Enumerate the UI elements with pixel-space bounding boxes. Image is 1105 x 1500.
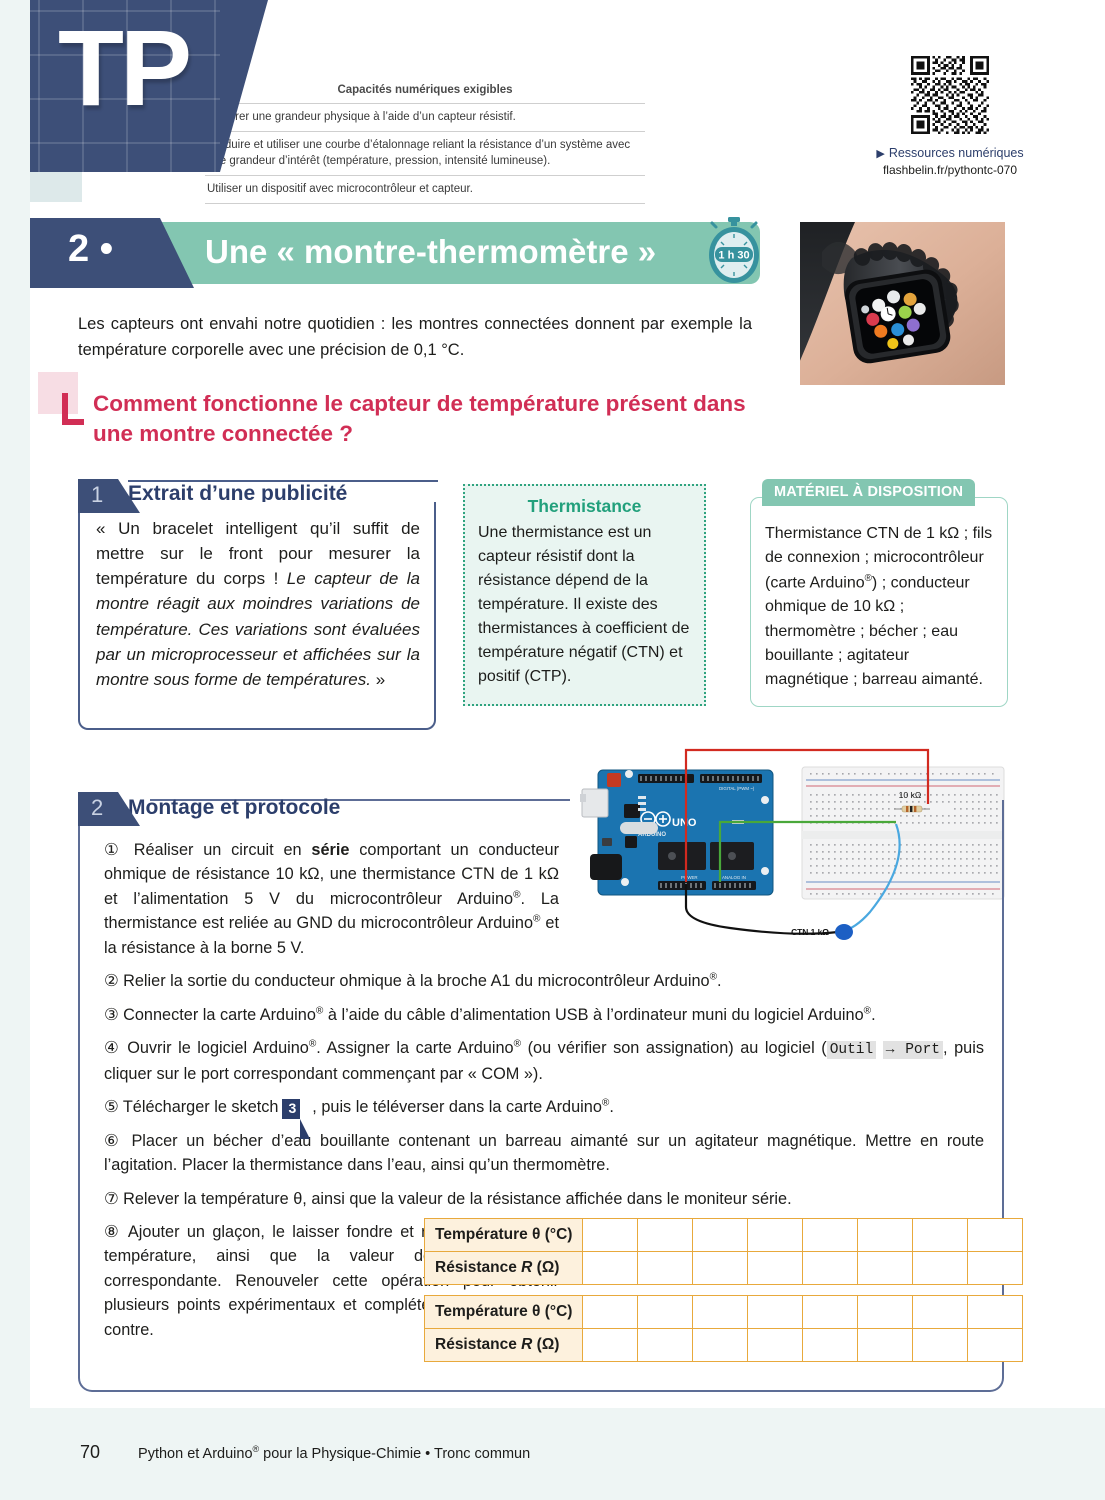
resistor-value-label: 10 kΩ — [899, 790, 922, 800]
table-row: Résistance R (Ω) — [425, 1252, 1023, 1285]
data-cell[interactable] — [638, 1329, 693, 1362]
data-cell[interactable] — [583, 1219, 638, 1252]
activity-number-tab: 2 • — [30, 218, 160, 288]
thermistance-definition-box: Thermistance Une thermistance est un cap… — [463, 484, 706, 706]
doc-1-number: 1 — [91, 482, 103, 508]
stopwatch-duration-label: 1 h 30 — [718, 250, 749, 262]
activity-title-bar: Une « montre-thermomètre » — [160, 222, 760, 284]
step-4-text-b: . Assigner la carte Arduino — [316, 1039, 513, 1057]
step-3-text-c: . — [871, 1006, 876, 1024]
data-cell[interactable] — [913, 1219, 968, 1252]
row-label-resistance: Résistance R (Ω) — [425, 1329, 583, 1362]
data-cell[interactable] — [693, 1252, 748, 1285]
step-5-text-b: , puis le téléverser dans la carte Ardui… — [312, 1098, 602, 1116]
step-3-text-a: ③ Connecter la carte Arduino — [104, 1006, 316, 1024]
table-row: Température θ (°C) — [425, 1219, 1023, 1252]
step-5-text-c: . — [609, 1098, 614, 1116]
data-cell[interactable] — [693, 1296, 748, 1329]
data-cell[interactable] — [913, 1329, 968, 1362]
smartwatch-photo — [800, 222, 1005, 385]
row-label-temperature: Température θ (°C) — [425, 1296, 583, 1329]
protocol-step-5: ⑤ Télécharger le sketch3, puis le téléve… — [104, 1095, 984, 1119]
capacity-item: Produire et utiliser une courbe d’étalon… — [205, 131, 645, 175]
data-cell[interactable] — [968, 1219, 1023, 1252]
data-cell[interactable] — [803, 1252, 858, 1285]
table-row: Température θ (°C) — [425, 1296, 1023, 1329]
data-cell[interactable] — [638, 1219, 693, 1252]
data-cell[interactable] — [583, 1329, 638, 1362]
data-cell[interactable] — [913, 1296, 968, 1329]
digital-resources-block[interactable]: ▶Ressources numériques flashbelin.fr/pyt… — [860, 56, 1040, 177]
decorative-corner-square — [30, 172, 82, 202]
registered-mark: ® — [865, 573, 872, 584]
thermistance-text: Une thermistance est un capteur résistif… — [478, 521, 691, 689]
protocol-step-1: ① Réaliser un circuit en série comportan… — [104, 838, 559, 960]
protocol-step-2: ② Relier la sortie du conducteur ohmique… — [104, 969, 984, 993]
play-triangle-icon: ▶ — [876, 148, 884, 160]
data-cell[interactable] — [803, 1329, 858, 1362]
data-cell[interactable] — [748, 1252, 803, 1285]
registered-mark: ® — [514, 1039, 521, 1050]
data-cell[interactable] — [803, 1296, 858, 1329]
doc-2-number: 2 — [91, 795, 103, 821]
intro-paragraph: Les capteurs ont envahi notre quotidien … — [78, 312, 752, 363]
doc-1-box: « Un bracelet intelligent qu’il suffit d… — [78, 502, 436, 730]
data-cell[interactable] — [968, 1296, 1023, 1329]
doc-1-text: « Un bracelet intelligent qu’il suffit d… — [96, 516, 420, 692]
sketch-reference-badge[interactable]: 3 — [282, 1099, 300, 1119]
tp-logo: TP — [30, 0, 220, 172]
registered-mark: ® — [864, 1005, 871, 1016]
footer-text-b: pour la Physique-Chimie • Tronc commun — [259, 1446, 530, 1462]
thermistance-title: Thermistance — [478, 496, 691, 517]
data-cell[interactable] — [748, 1219, 803, 1252]
stopwatch-icon: 1 h 30 — [703, 215, 765, 285]
data-cell[interactable] — [858, 1219, 913, 1252]
data-cell[interactable] — [968, 1252, 1023, 1285]
protocol-step-6: ⑥ Placer un bécher d’eau bouillante cont… — [104, 1129, 984, 1178]
table-row: Résistance R (Ω) — [425, 1329, 1023, 1362]
data-cell[interactable] — [638, 1252, 693, 1285]
step-3-text-b: à l’aide du câble d’alimentation USB à l… — [323, 1006, 863, 1024]
materiel-tab-label: MATÉRIEL À DISPOSITION — [774, 484, 963, 500]
results-table-2: Température θ (°C) Résistance R (Ω) — [424, 1295, 1023, 1362]
row-label-temperature: Température θ (°C) — [425, 1219, 583, 1252]
page-footer: 70Python et Arduino® pour la Physique-Ch… — [80, 1442, 530, 1463]
doc-1-number-tab: 1 — [78, 479, 118, 513]
label-digital: DIGITAL (PWM ~) — [719, 786, 755, 791]
capacity-item: Mesurer une grandeur physique à l’aide d… — [205, 103, 645, 131]
data-cell[interactable] — [693, 1219, 748, 1252]
qr-code-icon[interactable] — [911, 56, 989, 134]
protocol-step-7: ⑦ Relever la température θ, ainsi que la… — [104, 1187, 984, 1211]
page-number: 70 — [80, 1442, 100, 1462]
step-1-bold: série — [311, 841, 349, 859]
data-cell[interactable] — [748, 1329, 803, 1362]
step-4-text-a: ④ Ouvrir le logiciel Arduino — [104, 1039, 309, 1057]
data-cell[interactable] — [858, 1329, 913, 1362]
menu-path-outil: Outil — [827, 1041, 877, 1059]
footer-text-a: Python et Arduino — [138, 1446, 252, 1462]
data-cell[interactable] — [968, 1329, 1023, 1362]
registered-mark: ® — [710, 972, 717, 983]
data-cell[interactable] — [583, 1296, 638, 1329]
data-cell[interactable] — [748, 1296, 803, 1329]
materiel-text: Thermistance CTN de 1 kΩ ; fils de conne… — [765, 522, 997, 693]
activity-number: 2 • — [68, 230, 113, 268]
protocol-step-3: ③ Connecter la carte Arduino® à l’aide d… — [104, 1003, 984, 1027]
page-title: Une « montre-thermomètre » — [205, 233, 656, 271]
protocol-step-4: ④ Ouvrir le logiciel Arduino®. Assigner … — [104, 1036, 984, 1086]
step-4-text-c: (ou vérifier son assignation) au logicie… — [521, 1039, 827, 1057]
data-cell[interactable] — [803, 1219, 858, 1252]
data-cell[interactable] — [638, 1296, 693, 1329]
capacity-item: Utiliser un dispositif avec microcontrôl… — [205, 175, 645, 204]
materiel-box: Thermistance CTN de 1 kΩ ; fils de conne… — [750, 497, 1008, 707]
question-accent-bar — [62, 393, 68, 425]
doc-2-number-tab: 2 — [78, 792, 118, 826]
data-cell[interactable] — [913, 1252, 968, 1285]
doc-1-text-plain-end: » — [371, 670, 385, 689]
materiel-tab: MATÉRIEL À DISPOSITION — [762, 479, 975, 506]
main-question: Comment fonctionne le capteur de tempéra… — [93, 389, 773, 450]
data-cell[interactable] — [693, 1329, 748, 1362]
step-2-text-b: . — [717, 972, 722, 990]
step-5-text-a: ⑤ Télécharger le sketch — [104, 1098, 278, 1116]
materiel-text-b: ) ; conducteur ohmique de 10 kΩ ; thermo… — [765, 574, 983, 688]
data-cell[interactable] — [858, 1296, 913, 1329]
step-2-text-a: ② Relier la sortie du conducteur ohmique… — [104, 972, 710, 990]
tp-logo-label: TP — [58, 14, 188, 122]
registered-mark: ® — [513, 889, 520, 900]
row-label-resistance: Résistance R (Ω) — [425, 1252, 583, 1285]
menu-path-port: → Port — [883, 1041, 943, 1059]
data-cell[interactable] — [583, 1252, 638, 1285]
question-highlight-block — [38, 372, 78, 414]
results-table-1: Température θ (°C) Résistance R (Ω) — [424, 1218, 1023, 1285]
page-left-margin — [0, 0, 30, 1500]
step-1-text-a: ① Réaliser un circuit en — [104, 841, 311, 859]
digital-resources-link[interactable]: ▶Ressources numériques — [860, 146, 1040, 160]
digital-resources-label: Ressources numériques — [889, 146, 1024, 160]
data-cell[interactable] — [858, 1252, 913, 1285]
digital-resources-url[interactable]: flashbelin.fr/pythontc-070 — [860, 163, 1040, 177]
capacities-title: Capacités numériques exigibles — [205, 84, 645, 103]
capacities-block: Capacités numériques exigibles Mesurer u… — [205, 84, 645, 204]
